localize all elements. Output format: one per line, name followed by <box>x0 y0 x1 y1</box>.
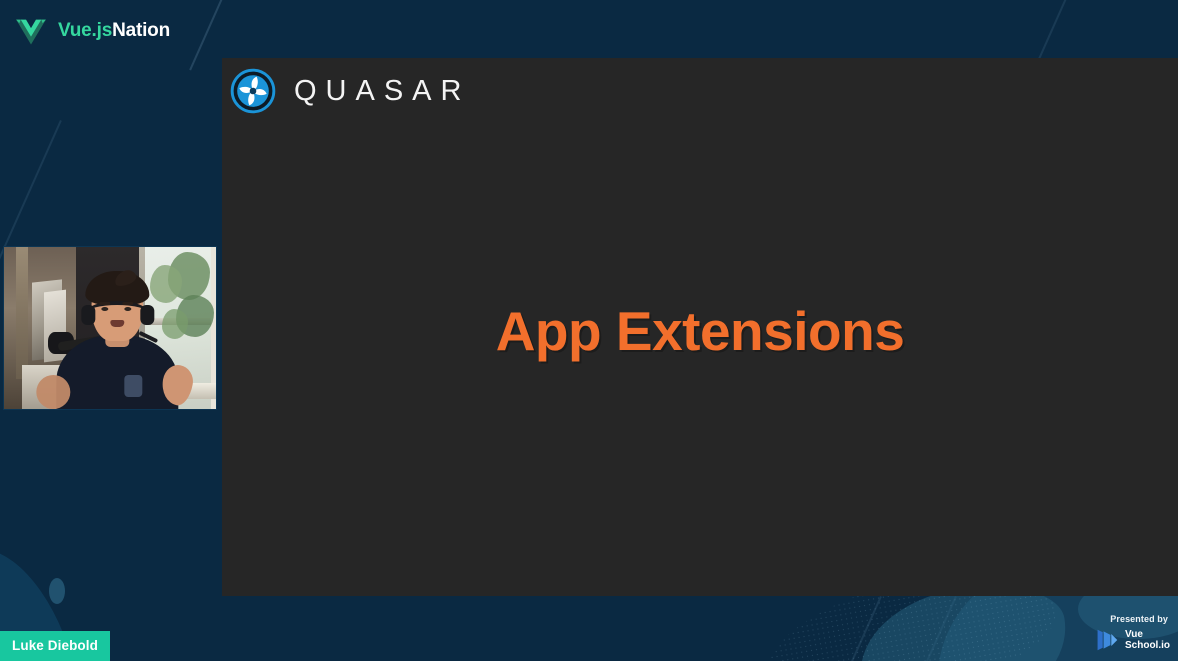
quasar-logo-icon <box>230 68 276 114</box>
event-logo: Vue.jsNation <box>14 14 170 48</box>
background-dot <box>49 578 65 604</box>
vueschool-play-icon <box>1095 627 1119 653</box>
speaker-figure <box>56 277 178 409</box>
speaker-video-frame <box>4 247 216 409</box>
event-logo-wordmark: Vue.jsNation <box>58 20 170 42</box>
speaker-video-tile[interactable] <box>3 246 217 410</box>
speaker-name-badge: Luke Diebold <box>0 631 110 661</box>
presented-by-block: Presented by Vue School.io <box>1095 614 1170 653</box>
vue-logo-icon <box>14 14 48 48</box>
sponsor-line-2: School.io <box>1125 640 1170 651</box>
sponsor-line-1: Vue <box>1125 629 1143 640</box>
sponsor-lockup: Vue School.io <box>1095 627 1170 653</box>
presentation-stream-view: Vue.jsNation <box>0 0 1178 661</box>
sponsor-wordmark: Vue School.io <box>1125 629 1170 651</box>
presented-by-label: Presented by <box>1095 614 1168 624</box>
event-logo-name-part-1: Vue.js <box>58 20 112 41</box>
quasar-wordmark: QUASAR <box>294 75 470 108</box>
diagonal-line <box>898 596 956 661</box>
slide-title: App Extensions <box>222 299 1178 363</box>
slide-content-area: QUASAR App Extensions <box>222 58 1178 596</box>
event-logo-name-part-2: Nation <box>112 20 170 41</box>
quasar-brand-lockup: QUASAR <box>230 68 470 114</box>
diagonal-line <box>823 596 881 661</box>
